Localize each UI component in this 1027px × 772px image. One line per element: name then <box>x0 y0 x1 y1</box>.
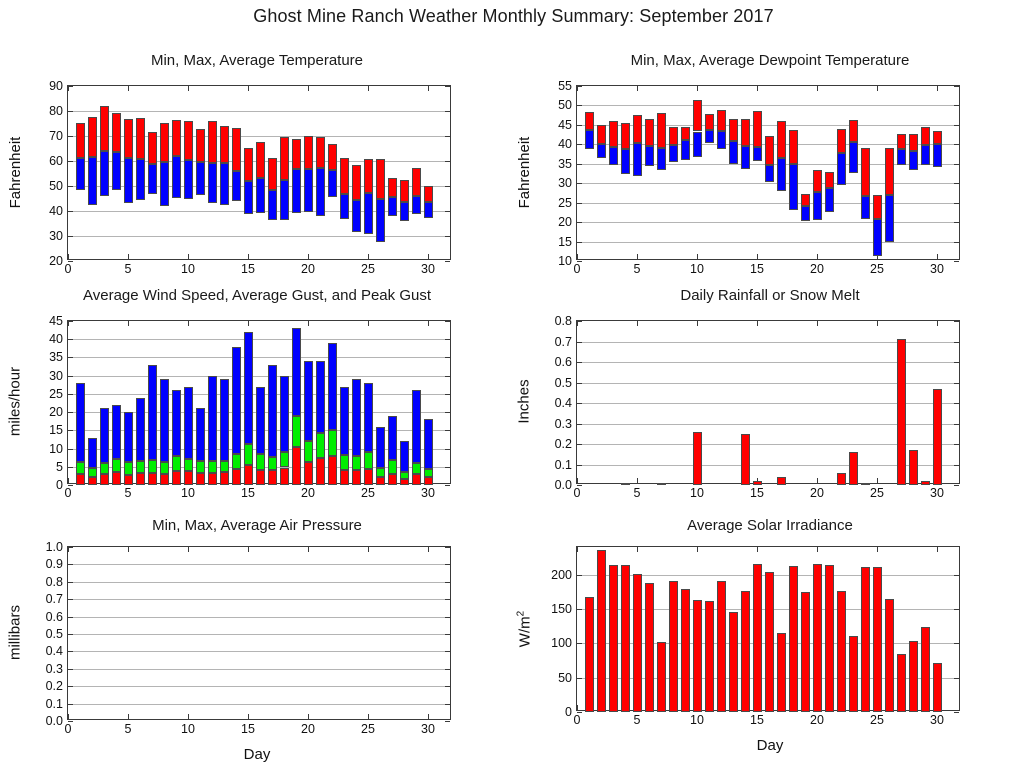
bar-peak-gust-11 <box>196 408 205 461</box>
bar-avg-wind-15 <box>244 465 253 485</box>
bar-min-16 <box>256 178 265 213</box>
ytick-mark <box>577 164 582 165</box>
bar-avg-gust-18 <box>280 452 289 468</box>
xtick-mark <box>637 321 638 326</box>
xtick-mark <box>697 254 698 259</box>
plot-area-pressure: 0.00.10.20.30.40.50.60.70.80.91.00510152… <box>67 546 451 720</box>
ytick-label: 0.3 <box>555 418 572 431</box>
ytick-mark <box>577 222 582 223</box>
ytick-mark <box>954 125 959 126</box>
ytick-mark <box>954 164 959 165</box>
xtick-mark <box>637 547 638 552</box>
bar-value-16 <box>765 572 774 712</box>
bar-peak-gust-24 <box>352 379 361 456</box>
xtick-label: 0 <box>65 263 72 276</box>
ytick-mark <box>445 686 450 687</box>
bar-max-16 <box>765 136 774 164</box>
ytick-label: 0.1 <box>46 698 63 711</box>
bar-value-3 <box>609 565 618 712</box>
gridline-y <box>68 582 450 583</box>
ytick-label: 0.4 <box>46 645 63 658</box>
gridline-y <box>577 183 959 184</box>
ytick-mark <box>954 465 959 466</box>
bar-peak-gust-25 <box>364 383 373 452</box>
bar-peak-gust-30 <box>424 419 433 469</box>
bar-min-4 <box>621 149 630 174</box>
bar-min-7 <box>148 164 157 194</box>
ytick-label: 0.5 <box>46 628 63 641</box>
ytick-label: 50 <box>558 672 572 685</box>
xtick-label: 25 <box>361 263 375 276</box>
xtick-label: 25 <box>870 487 884 500</box>
ytick-label: 80 <box>49 105 63 118</box>
bar-avg-gust-10 <box>184 459 193 471</box>
xtick-mark <box>308 547 309 552</box>
bar-avg-gust-30 <box>424 469 433 477</box>
ytick-mark <box>68 430 73 431</box>
bar-min-24 <box>352 200 361 231</box>
ytick-mark <box>954 86 959 87</box>
chart-title-wind: Average Wind Speed, Average Gust, and Pe… <box>0 287 514 304</box>
ytick-mark <box>577 403 582 404</box>
bar-avg-wind-13 <box>220 472 229 485</box>
xtick-label: 15 <box>750 714 764 727</box>
ytick-mark <box>68 686 73 687</box>
bar-max-28 <box>400 180 409 203</box>
bar-min-3 <box>609 147 618 165</box>
bar-min-20 <box>304 169 313 212</box>
xtick-label: 5 <box>634 263 641 276</box>
xtick-mark <box>877 86 878 91</box>
bar-avg-gust-26 <box>376 468 385 477</box>
bar-value-7 <box>657 642 666 712</box>
ylabel-pressure: millibars <box>7 546 24 720</box>
xtick-mark <box>697 547 698 552</box>
bar-avg-gust-25 <box>364 452 373 469</box>
ytick-mark <box>954 444 959 445</box>
bar-value-26 <box>885 599 894 712</box>
ytick-mark <box>954 403 959 404</box>
xtick-label: 10 <box>690 263 704 276</box>
ytick-label: 20 <box>49 406 63 419</box>
bar-avg-gust-4 <box>112 459 121 472</box>
bar-peak-gust-1 <box>76 383 85 462</box>
bar-value-17 <box>777 477 786 485</box>
bar-max-4 <box>112 113 121 152</box>
bar-min-10 <box>184 160 193 199</box>
xtick-mark <box>68 86 69 91</box>
bar-avg-gust-5 <box>124 462 133 474</box>
bar-avg-wind-11 <box>196 473 205 485</box>
bar-avg-gust-28 <box>400 472 409 479</box>
bar-value-18 <box>789 566 798 712</box>
xtick-label: 20 <box>301 263 315 276</box>
bar-min-9 <box>172 156 181 198</box>
gridline-y <box>68 634 450 635</box>
bar-peak-gust-21 <box>316 361 325 433</box>
bar-peak-gust-10 <box>184 387 193 460</box>
bar-avg-wind-6 <box>136 473 145 485</box>
ytick-label: 90 <box>49 80 63 93</box>
ytick-label: 0 <box>565 706 572 719</box>
bar-max-27 <box>388 178 397 198</box>
ytick-label: 0.4 <box>555 397 572 410</box>
xtick-mark <box>128 714 129 719</box>
bar-value-2 <box>597 550 606 712</box>
bar-max-14 <box>741 119 750 146</box>
ytick-mark <box>954 203 959 204</box>
xtick-label: 25 <box>361 723 375 736</box>
ytick-label: 35 <box>558 158 572 171</box>
bar-peak-gust-9 <box>172 390 181 456</box>
xtick-label: 15 <box>750 263 764 276</box>
gridline-y <box>68 236 450 237</box>
xtick-mark <box>577 547 578 552</box>
gridline-y <box>68 599 450 600</box>
gridline-y <box>68 669 450 670</box>
bar-max-23 <box>849 120 858 142</box>
ytick-mark <box>445 634 450 635</box>
xtick-mark <box>248 714 249 719</box>
bar-avg-gust-8 <box>160 462 169 473</box>
ytick-mark <box>445 136 450 137</box>
bar-min-15 <box>244 181 253 215</box>
bar-peak-gust-27 <box>388 416 397 460</box>
gridline-y <box>68 704 450 705</box>
ytick-mark <box>68 412 73 413</box>
chart-title-solar: Average Solar Irradiance <box>513 517 1027 534</box>
plot-area-solar: 050100150200051015202530 <box>576 546 960 711</box>
bar-max-22 <box>837 129 846 153</box>
bar-value-6 <box>645 583 654 712</box>
bar-min-9 <box>681 140 690 160</box>
xtick-label: 10 <box>181 723 195 736</box>
xtick-mark <box>428 547 429 552</box>
bar-min-18 <box>280 180 289 220</box>
bar-max-25 <box>873 195 882 219</box>
xtick-mark <box>937 254 938 259</box>
bar-max-23 <box>340 158 349 194</box>
bar-avg-wind-23 <box>340 470 349 485</box>
xtick-mark <box>128 547 129 552</box>
ytick-label: 50 <box>49 180 63 193</box>
bar-max-15 <box>753 111 762 148</box>
ytick-mark <box>68 339 73 340</box>
bar-max-12 <box>208 121 217 163</box>
bar-value-8 <box>669 581 678 712</box>
bar-value-4 <box>621 483 630 485</box>
ytick-mark <box>954 678 959 679</box>
ytick-mark <box>577 362 582 363</box>
ylabel-rainfall: Inches <box>516 320 533 484</box>
xtick-mark <box>877 478 878 483</box>
bar-avg-wind-2 <box>88 477 97 485</box>
xtick-mark <box>68 321 69 326</box>
ytick-mark <box>445 86 450 87</box>
xlabel-solar: Day <box>513 737 1027 754</box>
ytick-mark <box>68 161 73 162</box>
ytick-mark <box>577 678 582 679</box>
xtick-label: 5 <box>125 723 132 736</box>
ytick-mark <box>577 575 582 576</box>
xtick-label: 30 <box>930 487 944 500</box>
xtick-mark <box>308 254 309 259</box>
bar-avg-gust-27 <box>388 460 397 474</box>
xtick-label: 5 <box>634 487 641 500</box>
ytick-mark <box>577 643 582 644</box>
bar-peak-gust-5 <box>124 412 133 462</box>
bar-value-1 <box>585 597 594 712</box>
bar-max-5 <box>124 119 133 158</box>
bar-max-9 <box>681 127 690 141</box>
ytick-mark <box>68 136 73 137</box>
bar-peak-gust-13 <box>220 379 229 461</box>
ytick-mark <box>445 582 450 583</box>
bar-max-17 <box>777 121 786 157</box>
bar-value-27 <box>897 339 906 485</box>
xtick-mark <box>308 86 309 91</box>
bar-min-19 <box>801 206 810 221</box>
xtick-mark <box>248 254 249 259</box>
bar-avg-gust-17 <box>268 457 277 470</box>
bar-min-30 <box>933 144 942 167</box>
ytick-mark <box>68 449 73 450</box>
xtick-mark <box>368 86 369 91</box>
bar-value-22 <box>837 473 846 485</box>
ytick-label: 25 <box>49 388 63 401</box>
ytick-label: 100 <box>551 637 572 650</box>
ytick-mark <box>577 242 582 243</box>
gridline-y <box>577 203 959 204</box>
bar-min-29 <box>921 145 930 165</box>
xtick-label: 20 <box>810 714 824 727</box>
bar-value-9 <box>681 589 690 712</box>
bar-value-28 <box>909 641 918 712</box>
plot-area-wind: 051015202530354045051015202530 <box>67 320 451 484</box>
bar-max-20 <box>304 136 313 169</box>
bar-min-28 <box>400 202 409 221</box>
bar-min-14 <box>741 146 750 169</box>
bar-min-6 <box>136 159 145 200</box>
bar-max-22 <box>328 144 337 170</box>
xtick-mark <box>937 547 938 552</box>
bar-value-24 <box>861 483 870 485</box>
bar-max-3 <box>609 121 618 147</box>
ytick-mark <box>445 186 450 187</box>
bar-avg-wind-29 <box>412 474 421 485</box>
bar-max-11 <box>705 114 714 129</box>
bar-peak-gust-2 <box>88 438 97 468</box>
xtick-label: 20 <box>810 263 824 276</box>
ytick-label: 45 <box>49 315 63 328</box>
xtick-label: 0 <box>65 487 72 500</box>
ytick-label: 15 <box>558 236 572 249</box>
bar-peak-gust-20 <box>304 361 313 441</box>
ylabel-text: W/m <box>516 616 533 647</box>
ytick-label: 60 <box>49 155 63 168</box>
ytick-mark <box>445 412 450 413</box>
bar-avg-wind-21 <box>316 458 325 485</box>
chart-title-dewpoint: Min, Max, Average Dewpoint Temperature <box>513 52 1027 69</box>
ytick-label: 0.8 <box>46 576 63 589</box>
bar-max-11 <box>196 129 205 162</box>
bar-avg-wind-9 <box>172 471 181 485</box>
ytick-mark <box>68 617 73 618</box>
bar-avg-wind-4 <box>112 472 121 485</box>
bar-peak-gust-14 <box>232 347 241 454</box>
bar-avg-wind-19 <box>292 447 301 485</box>
xtick-mark <box>757 547 758 552</box>
ytick-mark <box>445 704 450 705</box>
ytick-mark <box>68 376 73 377</box>
ytick-label: 55 <box>558 80 572 93</box>
bar-avg-wind-30 <box>424 477 433 485</box>
ytick-label: 5 <box>56 461 63 474</box>
bar-peak-gust-23 <box>340 387 349 455</box>
bar-max-8 <box>160 123 169 162</box>
bar-max-4 <box>621 123 630 149</box>
xtick-label: 20 <box>810 487 824 500</box>
bar-min-5 <box>124 158 133 203</box>
bar-min-25 <box>364 193 373 234</box>
xtick-label: 10 <box>690 487 704 500</box>
ytick-label: 0.0 <box>46 715 63 728</box>
bar-avg-gust-19 <box>292 416 301 447</box>
bar-max-7 <box>148 132 157 164</box>
bar-avg-wind-26 <box>376 477 385 485</box>
bar-max-18 <box>789 130 798 164</box>
xtick-mark <box>877 547 878 552</box>
bar-avg-gust-11 <box>196 461 205 472</box>
bar-peak-gust-29 <box>412 390 421 463</box>
ytick-mark <box>445 236 450 237</box>
ytick-label: 45 <box>558 119 572 132</box>
ytick-mark <box>68 186 73 187</box>
ytick-label: 30 <box>49 230 63 243</box>
bar-max-19 <box>292 139 301 169</box>
ytick-mark <box>68 211 73 212</box>
bar-avg-gust-20 <box>304 441 313 461</box>
ytick-label: 0.3 <box>46 663 63 676</box>
ytick-label: 10 <box>49 443 63 456</box>
gridline-y <box>68 686 450 687</box>
xtick-mark <box>577 478 578 483</box>
xtick-mark <box>368 254 369 259</box>
bar-min-27 <box>388 197 397 216</box>
xtick-mark <box>697 321 698 326</box>
bar-value-30 <box>933 663 942 713</box>
xtick-mark <box>817 547 818 552</box>
bar-avg-wind-25 <box>364 469 373 485</box>
gridline-y <box>68 339 450 340</box>
bar-peak-gust-8 <box>160 379 169 462</box>
bar-avg-gust-14 <box>232 454 241 469</box>
xtick-mark <box>577 254 578 259</box>
ytick-mark <box>954 643 959 644</box>
bar-max-30 <box>933 131 942 145</box>
ytick-label: 40 <box>49 333 63 346</box>
bar-min-3 <box>100 151 109 197</box>
ytick-label: 30 <box>558 177 572 190</box>
ytick-mark <box>577 144 582 145</box>
bar-value-15 <box>753 481 762 485</box>
xtick-label: 0 <box>574 714 581 727</box>
bar-avg-wind-17 <box>268 470 277 485</box>
bar-avg-wind-20 <box>304 462 313 485</box>
bar-avg-wind-16 <box>256 470 265 485</box>
bar-avg-wind-7 <box>148 473 157 485</box>
bar-min-2 <box>88 157 97 206</box>
xtick-mark <box>757 321 758 326</box>
ytick-mark <box>68 651 73 652</box>
bar-min-8 <box>669 145 678 163</box>
ytick-label: 0.5 <box>555 377 572 390</box>
ytick-mark <box>445 449 450 450</box>
bar-min-7 <box>657 148 666 170</box>
bar-max-15 <box>244 148 253 181</box>
ytick-label: 0.8 <box>555 315 572 328</box>
ytick-label: 0.2 <box>46 680 63 693</box>
xtick-mark <box>368 547 369 552</box>
bar-max-3 <box>100 106 109 151</box>
ytick-mark <box>68 564 73 565</box>
bar-max-10 <box>693 100 702 132</box>
ytick-mark <box>445 111 450 112</box>
bar-min-26 <box>885 195 894 242</box>
bar-max-30 <box>424 186 433 203</box>
bar-min-17 <box>777 158 786 191</box>
bar-min-26 <box>376 199 385 243</box>
bar-min-13 <box>220 163 229 205</box>
ytick-label: 0.9 <box>46 558 63 571</box>
bar-avg-gust-9 <box>172 456 181 471</box>
ytick-mark <box>68 704 73 705</box>
bar-value-10 <box>693 600 702 712</box>
ytick-mark <box>954 105 959 106</box>
ytick-mark <box>68 599 73 600</box>
xtick-label: 15 <box>750 487 764 500</box>
ytick-mark <box>445 564 450 565</box>
xtick-mark <box>637 478 638 483</box>
bar-max-21 <box>316 137 325 168</box>
bar-peak-gust-18 <box>280 376 289 452</box>
xtick-label: 0 <box>574 263 581 276</box>
xtick-label: 20 <box>301 487 315 500</box>
ytick-mark <box>445 161 450 162</box>
xtick-mark <box>428 321 429 326</box>
ytick-label: 25 <box>558 197 572 210</box>
xtick-mark <box>817 254 818 259</box>
xtick-mark <box>637 254 638 259</box>
bar-peak-gust-3 <box>100 408 109 463</box>
bar-max-28 <box>909 134 918 152</box>
ytick-mark <box>577 183 582 184</box>
bar-max-27 <box>897 134 906 150</box>
bar-value-23 <box>849 636 858 712</box>
ylabel-solar: W/m2 <box>515 546 533 711</box>
plot-area-rainfall: 0.00.10.20.30.40.50.60.70.8051015202530 <box>576 320 960 484</box>
xtick-mark <box>308 714 309 719</box>
xtick-mark <box>368 321 369 326</box>
ytick-label: 40 <box>558 138 572 151</box>
bar-min-8 <box>160 162 169 206</box>
xtick-mark <box>188 86 189 91</box>
ytick-mark <box>577 383 582 384</box>
ytick-label: 0.7 <box>46 593 63 606</box>
bar-avg-gust-6 <box>136 461 145 473</box>
ytick-mark <box>68 236 73 237</box>
bar-avg-gust-24 <box>352 456 361 470</box>
